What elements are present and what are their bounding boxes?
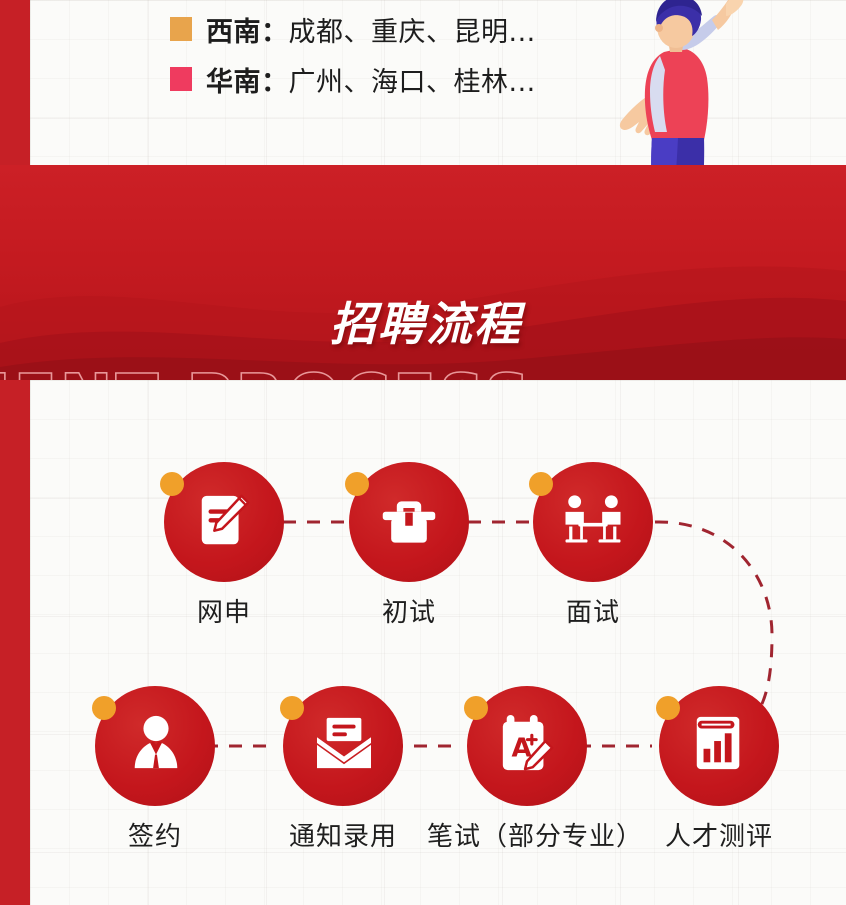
interview-table-icon [560,492,626,550]
legend-cities: 广州、海口、桂林... [289,67,536,98]
bar-chart-book-icon [690,712,748,772]
legend-region: 西南 [206,17,261,48]
step-label: 初试 [339,592,479,629]
step-label: 人才测评 [649,816,789,853]
banner-title: 招聘流程 [0,288,846,354]
notepad-aplus-icon: A [498,712,556,774]
legend-swatch-southchina [170,67,192,91]
legend-cities: 成都、重庆、昆明... [289,17,536,48]
step-accent-dot [529,472,553,496]
region-legend: 西南：成都、重庆、昆明... 华南：广州、海口、桂林... [170,4,536,104]
step-accent-dot [160,472,184,496]
step-label: 签约 [85,816,225,853]
infographic-page: 西南：成都、重庆、昆明... 华南：广州、海口、桂林... [0,0,846,905]
legend-row: 西南：成都、重庆、昆明... [170,4,536,54]
step-label: 笔试（部分专业） [427,816,627,853]
banner-title-text: 招聘流程 [324,297,522,351]
envelope-icon [313,716,375,770]
banner-outline-text: MENT PROCESS [0,361,533,380]
document-pencil-icon [194,490,256,552]
step-label: 通知录用 [273,816,413,853]
briefcase-icon [379,492,439,552]
legend-label: 华南：广州、海口、桂林... [206,60,536,99]
legend-separator: ： [261,17,289,48]
process-card: 网申 初试 [30,380,846,905]
step-accent-dot [464,696,488,720]
step-accent-dot [92,696,116,720]
step-accent-dot [345,472,369,496]
legend-region: 华南 [206,67,261,98]
person-suit-icon [127,714,185,772]
legend-row: 华南：广州、海口、桂林... [170,54,536,104]
step-accent-dot [656,696,680,720]
legend-separator: ： [261,67,289,98]
step-label: 面试 [523,592,663,629]
step-label: 网申 [154,592,294,629]
legend-label: 西南：成都、重庆、昆明... [206,10,536,49]
legend-swatch-southwest [170,17,192,41]
step-accent-dot [280,696,304,720]
